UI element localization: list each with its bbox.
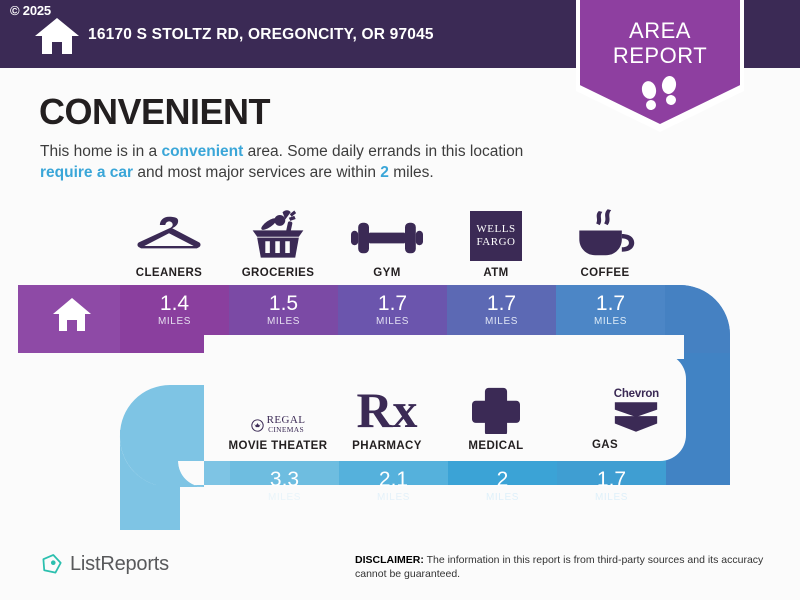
- row1-distance-atm: 1.7 MILES: [447, 292, 556, 327]
- listreports-logo[interactable]: ListReports: [40, 553, 169, 576]
- distance-unit: MILES: [229, 316, 338, 327]
- disclaimer-label: DISCLAIMER:: [355, 554, 424, 566]
- subtitle-part-1: This home is in a: [40, 143, 161, 160]
- poi-icon-cell-medical: MEDICAL: [442, 378, 550, 452]
- wells-fargo-logo: WELLS FARGO: [442, 205, 550, 261]
- badge-line-2: REPORT: [570, 43, 750, 68]
- poi-icon-cell-pharmacy: Rx PHARMACY: [333, 378, 441, 452]
- distance-value: 1.7: [557, 468, 666, 492]
- chevron-logo: Chevron: [551, 373, 659, 433]
- distance-value: 1.4: [120, 292, 229, 316]
- distance-unit: MILES: [557, 492, 666, 503]
- poi-label: MOVIE THEATER: [224, 440, 332, 452]
- badge-line-1: AREA: [570, 18, 750, 43]
- distance-unit: MILES: [448, 492, 557, 503]
- dumbbell-icon: [333, 205, 441, 261]
- distance-unit: MILES: [556, 316, 665, 327]
- distance-value: 1.7: [338, 292, 447, 316]
- area-report-badge-text: AREA REPORT: [570, 18, 750, 68]
- chevron-wordmark: Chevron: [614, 388, 659, 401]
- disclaimer: DISCLAIMER: The information in this repo…: [355, 553, 785, 581]
- row2-distance-medical: 2 MILES: [448, 468, 557, 503]
- subtitle-part-4: miles.: [389, 164, 434, 181]
- row1-distance-cleaners: 1.4 MILES: [120, 292, 229, 327]
- distance-value: 2.1: [339, 468, 448, 492]
- distance-value: 2: [448, 468, 557, 492]
- row1-distance-coffee: 1.7 MILES: [556, 292, 665, 327]
- regal-cinemas-logo: REGAL CINEMAS: [224, 378, 332, 434]
- medical-cross-icon: [442, 378, 550, 434]
- area-report-page: © 2025 16170 S STOLTZ RD, OREGONCITY, OR…: [0, 0, 800, 600]
- poi-icon-cell-groceries: GROCERIES: [224, 205, 332, 279]
- regal-line-1: REGAL: [267, 416, 306, 425]
- distance-value: 1.7: [447, 292, 556, 316]
- listreports-pin-icon: [40, 553, 63, 576]
- poi-label: MEDICAL: [442, 440, 550, 452]
- poi-icon-cell-atm: WELLS FARGO ATM: [442, 205, 550, 279]
- subtitle-highlight-miles: 2: [380, 164, 389, 181]
- poi-label: PHARMACY: [333, 440, 441, 452]
- chevron-mark-icon: [613, 401, 659, 433]
- poi-icon-cell-cleaners: CLEANERS: [115, 205, 223, 279]
- distance-unit: MILES: [120, 316, 229, 327]
- rx-icon: Rx: [333, 378, 441, 434]
- distance-unit: MILES: [339, 492, 448, 503]
- poi-icon-cell-movie-theater: REGAL CINEMAS MOVIE THEATER: [224, 378, 332, 452]
- footprints-icon: [636, 76, 684, 114]
- row2-distance-gas: 1.7 MILES: [557, 468, 666, 503]
- poi-label: GAS: [551, 439, 659, 451]
- page-title: CONVENIENT: [39, 91, 270, 133]
- poi-icon-cell-coffee: COFFEE: [551, 205, 659, 279]
- row2-distance-movie-theater: 3.3 MILES: [230, 468, 339, 503]
- distance-unit: MILES: [338, 316, 447, 327]
- subtitle-part-3: and most major services are within: [133, 164, 380, 181]
- page-subtitle: This home is in a convenient area. Some …: [40, 141, 570, 183]
- regal-line-2: CINEMAS: [267, 425, 306, 434]
- coffee-cup-icon: [551, 205, 659, 261]
- home-icon: [34, 16, 80, 56]
- row1-distance-groceries: 1.5 MILES: [229, 292, 338, 327]
- grocery-basket-icon: [224, 205, 332, 261]
- distance-unit: MILES: [230, 492, 339, 503]
- property-address: 16170 S STOLTZ RD, OREGONCITY, OR 97045: [88, 26, 434, 44]
- listreports-wordmark: ListReports: [70, 553, 169, 576]
- row1-row2-gap: [204, 335, 684, 359]
- subtitle-highlight-convenient: convenient: [161, 143, 243, 160]
- wells-fargo-line-1: WELLS: [476, 223, 515, 236]
- distance-value: 1.5: [229, 292, 338, 316]
- subtitle-part-2: area. Some daily errands in this locatio…: [243, 143, 523, 160]
- poi-icon-cell-gas: Chevron GAS: [551, 373, 659, 451]
- home-icon: [52, 297, 92, 333]
- regal-crown-icon: [251, 419, 264, 432]
- subtitle-highlight-require-a-car: require a car: [40, 164, 133, 181]
- rx-glyph: Rx: [356, 386, 417, 434]
- row2-distance-pharmacy: 2.1 MILES: [339, 468, 448, 503]
- distance-value: 1.7: [556, 292, 665, 316]
- distance-unit: MILES: [447, 316, 556, 327]
- poi-icon-cell-gym: GYM: [333, 205, 441, 279]
- row1-distance-gym: 1.7 MILES: [338, 292, 447, 327]
- hanger-icon: [115, 205, 223, 261]
- distance-value: 3.3: [230, 468, 339, 492]
- wells-fargo-line-2: FARGO: [477, 236, 516, 249]
